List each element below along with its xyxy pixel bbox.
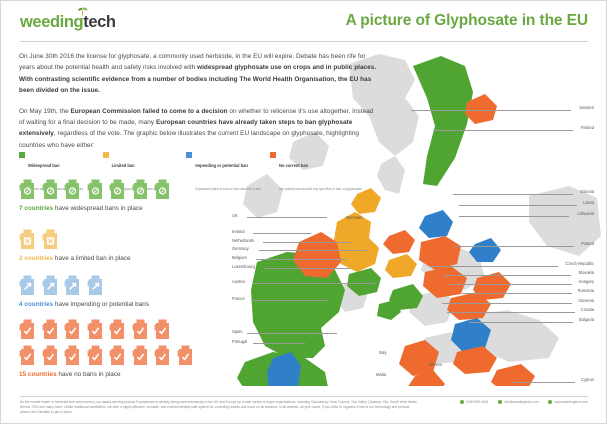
jerrycan-no-entry-icon (64, 178, 81, 200)
jerrycan-cross-icon (19, 228, 36, 250)
map-label-ireland: Ireland (232, 230, 245, 234)
leader-line-germany (259, 250, 367, 251)
leader-line-lithuania (459, 216, 569, 217)
jerrycan-check-icon (177, 344, 194, 366)
email-icon (498, 400, 502, 404)
leader-line-austria (253, 283, 375, 284)
leaf-icon (77, 7, 88, 16)
jerrycan-arrow-up-right-icon (19, 274, 36, 296)
can-row (19, 178, 171, 200)
jerrycan-check-icon (132, 344, 149, 366)
map-label-denmark: Denmark (346, 216, 363, 220)
jerrycan-check-icon (19, 318, 36, 340)
leader-line-finland (433, 130, 573, 131)
jerrycan-check-icon (132, 318, 149, 340)
paragraph-2: On May 19th, the European Commission fai… (19, 106, 379, 152)
legend-sub-impending: Expressed plans to ban or has called for… (195, 187, 261, 191)
jerrycan-check-icon (64, 344, 81, 366)
map-label-greece: Greece (429, 363, 442, 367)
leader-line-poland (454, 246, 574, 247)
stat-group-impending-ban: 4 countries have impending or potential … (19, 274, 149, 308)
leader-line-croatia (447, 312, 575, 313)
leader-line-czech-republic (430, 266, 558, 267)
article-body: On June 30th 2016 the license for glypho… (19, 51, 379, 160)
can-row (19, 318, 194, 340)
leader-line-latvia (459, 205, 577, 206)
stat-count-widespread: 7 countries (19, 205, 53, 212)
can-row (19, 344, 194, 366)
map-label-austria: Austria (232, 280, 245, 284)
jerrycan-no-entry-icon (19, 178, 36, 200)
stat-caption-limited: 2 countries have a limited ban in place (19, 255, 131, 262)
stat-count-impending: 4 countries (19, 301, 53, 308)
jerrycan-check-icon (42, 344, 59, 366)
legend-sub-no-ban: Not publicly announced any specifics or … (279, 187, 362, 191)
footer-phone[interactable]: 0330 999 4515 (460, 400, 488, 405)
map-label-belgium: Belgium (232, 256, 247, 260)
map-label-uk: UK (232, 214, 238, 218)
jerrycan-arrow-up-right-icon (87, 274, 104, 296)
can-row (19, 274, 149, 296)
legend-swatch-blue (186, 152, 192, 158)
leader-line-spain (247, 333, 337, 334)
stat-caption-no-ban: 15 countries have no bans in place (19, 371, 194, 378)
page-title: A picture of Glyphosate in the EU (346, 12, 588, 30)
jerrycan-no-entry-icon (154, 178, 171, 200)
map-label-portugal: Portugal (232, 340, 247, 344)
legend-title-widespread: Widespread ban (28, 163, 60, 168)
stat-text-impending: have impending or potential bans (53, 301, 149, 308)
legend-swatch-yellow (103, 152, 109, 158)
leader-line-portugal (253, 343, 305, 344)
jerrycan-check-icon (19, 344, 36, 366)
footer-contacts: 0330 999 4515 info@weedingtech.com www.w… (460, 400, 588, 405)
globe-icon (548, 400, 552, 404)
jerrycan-check-icon (154, 344, 171, 366)
leader-line-france (251, 300, 329, 301)
stat-count-no-ban: 15 countries (19, 371, 57, 378)
infographic-page: weedingtech A picture of Glyphosate in t… (0, 0, 607, 424)
leader-line-slovenia (442, 303, 572, 304)
phone-icon (460, 400, 464, 404)
jerrycan-no-entry-icon (109, 178, 126, 200)
footer-website[interactable]: www.weedingtech.com (548, 400, 588, 405)
jerrycan-check-icon (42, 318, 59, 340)
page-header: weedingtech A picture of Glyphosate in t… (1, 1, 606, 43)
stat-group-limited-ban: 2 countries have a limited ban in place (19, 228, 131, 262)
footer-disclaimer: As the market leader in herbicide-free w… (20, 400, 420, 415)
paragraph-1: On June 30th 2016 the license for glypho… (19, 51, 379, 97)
legend-item-no-ban: No current ban Not publicly announced an… (270, 151, 359, 197)
leader-line-estonia (453, 194, 573, 195)
legend-title-no-ban: No current ban (279, 163, 308, 168)
jerrycan-no-entry-icon (132, 178, 149, 200)
weedingtech-logo: weedingtech (20, 13, 116, 32)
legend-swatch-green (19, 152, 25, 158)
logo-text-tech: tech (83, 13, 115, 31)
header-divider (20, 41, 588, 42)
leader-line-uk (247, 217, 327, 218)
map-label-italy: Italy (379, 351, 387, 355)
map-label-luxembourg: Luxembourg (232, 265, 255, 269)
jerrycan-check-icon (87, 318, 104, 340)
leader-line-netherlands (263, 242, 351, 243)
jerrycan-check-icon (109, 318, 126, 340)
jerrycan-arrow-up-right-icon (42, 274, 59, 296)
page-footer: As the market leader in herbicide-free w… (20, 400, 588, 415)
legend-title-limited: Limited ban (112, 163, 135, 168)
stat-caption-impending: 4 countries have impending or potential … (19, 301, 149, 308)
leader-line-sweden (411, 110, 571, 111)
logo-text-weeding: weeding (20, 13, 83, 31)
map-label-germany: Germany (232, 247, 249, 251)
leader-line-bulgaria (469, 322, 573, 323)
leader-line-romania (462, 293, 572, 294)
stat-text-limited: have a limited ban in place (53, 255, 130, 262)
jerrycan-no-entry-icon (42, 178, 59, 200)
stat-count-limited: 2 countries (19, 255, 53, 262)
map-label-spain: Spain (232, 330, 242, 334)
jerrycan-cross-icon (42, 228, 59, 250)
stat-group-widespread-ban: 7 countries have widespread bans in plac… (19, 178, 171, 212)
jerrycan-check-icon (87, 344, 104, 366)
jerrycan-no-entry-icon (87, 178, 104, 200)
jerrycan-arrow-up-right-icon (64, 274, 81, 296)
leader-line-cyprus (513, 382, 575, 383)
leader-line-hungary (450, 284, 572, 285)
legend-title-impending: Impending or potential ban (195, 163, 248, 168)
map-label-france: France (232, 297, 245, 301)
jerrycan-check-icon (64, 318, 81, 340)
jerrycan-check-icon (109, 344, 126, 366)
map-label-netherlands: Netherlands (232, 239, 254, 243)
stat-group-no-ban: 15 countries have no bans in place (19, 318, 194, 378)
legend-swatch-orange (270, 152, 276, 158)
legend-item-impending-ban: Impending or potential ban Expressed pla… (186, 151, 270, 197)
leader-line-ireland (253, 233, 311, 234)
map-label-malta: Malta (376, 373, 386, 377)
stat-text-widespread: have widespread bans in place (53, 205, 143, 212)
leader-line-belgium (256, 259, 346, 260)
footer-email[interactable]: info@weedingtech.com (498, 400, 538, 405)
leader-line-luxembourg (264, 268, 350, 269)
leader-line-slovakia (443, 275, 571, 276)
jerrycan-check-icon (154, 318, 171, 340)
stat-text-no-ban: have no bans in place (57, 371, 121, 378)
stat-caption-widespread: 7 countries have widespread bans in plac… (19, 205, 171, 212)
footer-divider (20, 396, 588, 397)
can-row (19, 228, 131, 250)
